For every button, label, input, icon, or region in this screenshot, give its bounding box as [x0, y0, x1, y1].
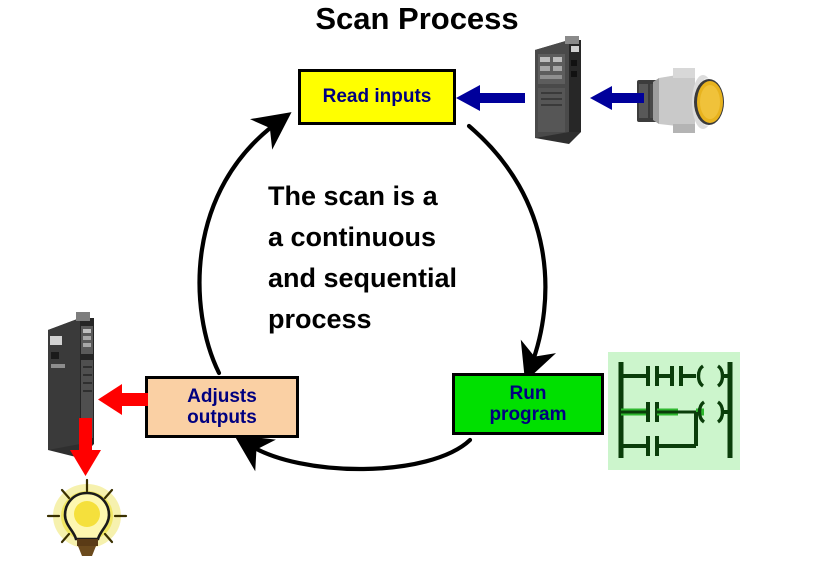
node-run-program-line1: Run [510, 383, 547, 404]
center-description-line-3: and sequential [268, 258, 548, 299]
center-description-line-2: a continuous [268, 217, 548, 258]
scan-process-diagram: Scan Process Read inputs Adjusts outputs… [0, 0, 834, 565]
center-description: The scan is a a continuous and sequentia… [268, 176, 548, 340]
node-run-program-label: Run program [489, 383, 566, 426]
center-description-line-4: process [268, 299, 548, 340]
arc-adjusts-to-read [200, 122, 278, 373]
arrow-input-module-to-read-inputs [456, 85, 525, 111]
arc-run-to-adjusts [248, 440, 470, 469]
center-description-line-1: The scan is a [268, 176, 548, 217]
page-title: Scan Process [0, 0, 834, 38]
node-adjusts-outputs[interactable]: Adjusts outputs [145, 376, 299, 438]
pushbutton-switch [633, 62, 733, 142]
node-read-inputs[interactable]: Read inputs [298, 69, 456, 125]
node-adjusts-outputs-line2: outputs [187, 407, 257, 428]
plc-output-module [40, 312, 106, 464]
node-read-inputs-label: Read inputs [323, 86, 432, 107]
node-adjusts-outputs-label: Adjusts outputs [187, 386, 257, 429]
node-run-program-line2: program [489, 404, 566, 425]
node-run-program[interactable]: Run program [452, 373, 604, 435]
indicator-lamp [44, 478, 130, 560]
plc-input-module [525, 36, 595, 148]
ladder-logic-program [608, 352, 740, 470]
node-adjusts-outputs-line1: Adjusts [187, 386, 257, 407]
